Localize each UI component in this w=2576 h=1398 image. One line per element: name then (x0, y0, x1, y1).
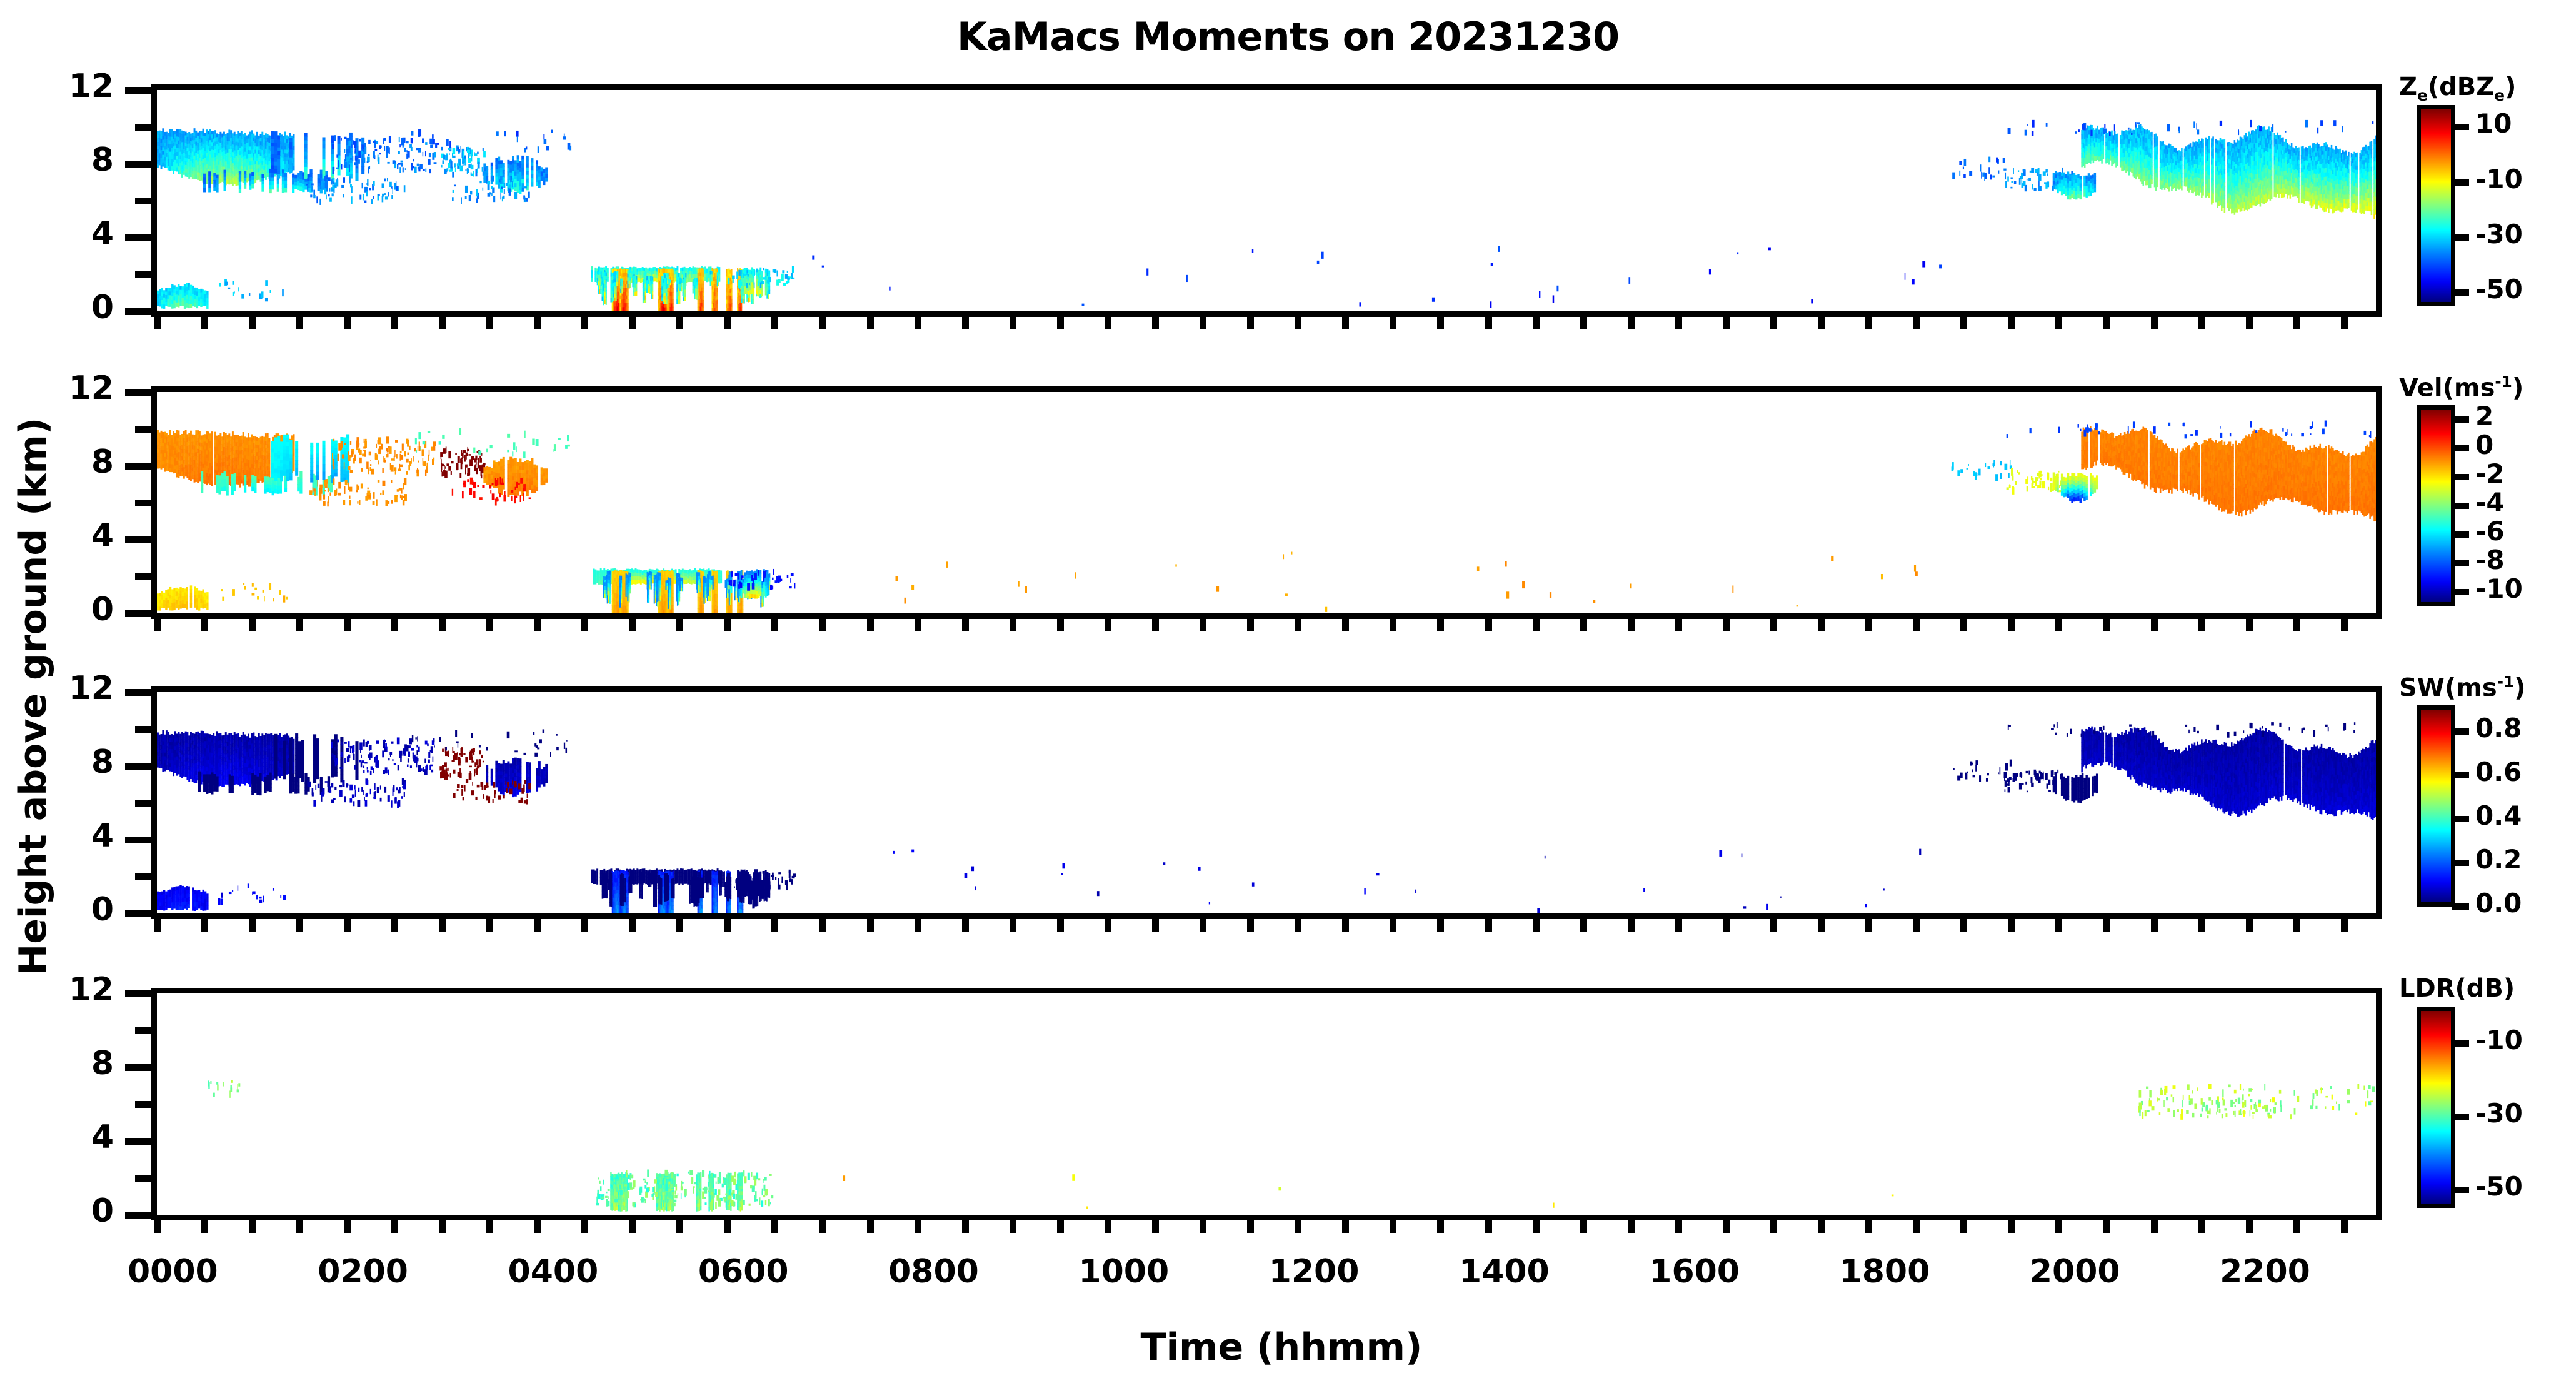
x-minor-tick (867, 1220, 874, 1233)
x-tick-label: 0200 (276, 1253, 451, 1290)
x-minor-tick (439, 919, 446, 932)
y-minor-tick (135, 873, 151, 880)
x-minor-tick (249, 317, 256, 329)
x-minor-tick (154, 1220, 161, 1233)
x-minor-tick (2341, 1220, 2348, 1233)
x-minor-tick (534, 919, 541, 932)
x-minor-tick (724, 317, 731, 329)
x-minor-tick (1770, 1220, 1777, 1233)
x-minor-tick (1437, 919, 1444, 932)
x-minor-tick (1533, 919, 1540, 932)
y-tick-label: 4 (0, 215, 114, 253)
colorbar-title-ldr: LDR(dB) (2399, 974, 2515, 1003)
x-minor-tick (1485, 317, 1492, 329)
x-minor-tick (2151, 1220, 2158, 1233)
x-minor-tick (1295, 317, 1301, 329)
x-minor-tick (1295, 1220, 1301, 1233)
x-minor-tick (1865, 317, 1872, 329)
y-major-tick (125, 763, 151, 770)
x-minor-tick (2293, 919, 2300, 932)
x-minor-tick (1818, 619, 1825, 631)
y-minor-tick (135, 1027, 151, 1034)
x-minor-tick (391, 919, 398, 932)
x-minor-tick (629, 919, 636, 932)
x-minor-tick (1152, 317, 1159, 329)
x-minor-tick (2055, 619, 2062, 631)
colorbar-tick-label: 0.4 (2475, 800, 2522, 831)
x-minor-tick (1057, 919, 1064, 932)
colorbar-tick (2452, 1114, 2469, 1120)
x-minor-tick (201, 1220, 208, 1233)
x-minor-tick (724, 1220, 731, 1233)
colorbar-title-vel: Vel(ms-1) (2399, 373, 2523, 402)
x-minor-tick (2008, 317, 2015, 329)
x-minor-tick (2103, 619, 2110, 631)
x-minor-tick (915, 1220, 921, 1233)
x-minor-tick (1390, 919, 1396, 932)
x-minor-tick (1628, 919, 1635, 932)
x-minor-tick (296, 919, 303, 932)
y-tick-label: 12 (0, 68, 114, 105)
x-minor-tick (2151, 619, 2158, 631)
x-minor-tick (1580, 317, 1587, 329)
x-minor-tick (344, 919, 351, 932)
x-minor-tick (581, 619, 588, 631)
y-major-tick (125, 610, 151, 617)
x-minor-tick (296, 317, 303, 329)
y-tick-label: 0 (0, 289, 114, 326)
x-minor-tick (2341, 619, 2348, 631)
x-minor-tick (201, 619, 208, 631)
x-minor-tick (1342, 1220, 1349, 1233)
x-minor-tick (1485, 919, 1492, 932)
y-tick-label: 8 (0, 1045, 114, 1082)
x-minor-tick (2198, 317, 2205, 329)
x-minor-tick (1485, 619, 1492, 631)
x-minor-tick (2246, 919, 2253, 932)
colorbar-tick-label: -50 (2475, 1171, 2523, 1202)
colorbar-tick (2452, 816, 2469, 822)
colorbar-tick-label: -6 (2475, 516, 2505, 546)
x-minor-tick (1770, 317, 1777, 329)
x-minor-tick (1580, 1220, 1587, 1233)
x-tick-label: 1000 (1036, 1253, 1211, 1290)
x-minor-tick (1057, 1220, 1064, 1233)
y-tick-label: 12 (0, 670, 114, 707)
x-minor-tick (249, 919, 256, 932)
y-minor-tick (135, 500, 151, 506)
y-tick-label: 0 (0, 891, 114, 928)
colorbar-tick-label: -10 (2475, 1025, 2523, 1055)
colorbar-gradient-sw (2417, 705, 2455, 907)
x-minor-tick (1295, 619, 1301, 631)
x-minor-tick (581, 317, 588, 329)
y-major-tick (125, 1064, 151, 1071)
x-minor-tick (2198, 619, 2205, 631)
x-minor-tick (1723, 619, 1730, 631)
x-minor-tick (486, 1220, 493, 1233)
x-minor-tick (1342, 317, 1349, 329)
x-minor-tick (2151, 919, 2158, 932)
x-minor-tick (1010, 317, 1016, 329)
x-minor-tick (676, 619, 683, 631)
x-minor-tick (2008, 1220, 2015, 1233)
x-minor-tick (1200, 919, 1206, 932)
x-minor-tick (1580, 619, 1587, 631)
x-minor-tick (2293, 1220, 2300, 1233)
x-minor-tick (2103, 317, 2110, 329)
x-minor-tick (1152, 919, 1159, 932)
x-minor-tick (1580, 919, 1587, 932)
x-minor-tick (296, 1220, 303, 1233)
y-minor-tick (135, 198, 151, 204)
x-minor-tick (1675, 619, 1682, 631)
x-minor-tick (2246, 1220, 2253, 1233)
colorbar-tick-label: -4 (2475, 487, 2505, 518)
x-minor-tick (1010, 919, 1016, 932)
x-tick-label: 1400 (1416, 1253, 1591, 1290)
x-tick-label: 0600 (656, 1253, 831, 1290)
x-minor-tick (1960, 919, 1967, 932)
colorbar-tick (2452, 860, 2469, 866)
colorbar-tick-label: 0.2 (2475, 844, 2522, 875)
x-minor-tick (1390, 619, 1396, 631)
x-minor-tick (629, 619, 636, 631)
colorbar-tick (2452, 903, 2469, 910)
colorbar-tick (2452, 503, 2469, 509)
y-tick-label: 4 (0, 817, 114, 855)
x-tick-label: 2200 (2178, 1253, 2353, 1290)
x-minor-tick (1723, 1220, 1730, 1233)
colorbar-tick (2452, 560, 2469, 566)
y-major-tick (125, 1212, 151, 1219)
x-minor-tick (2151, 317, 2158, 329)
colorbar-tick-label: 0.8 (2475, 713, 2522, 743)
x-minor-tick (154, 317, 161, 329)
colorbar-tick-label: 2 (2475, 401, 2493, 431)
colorbar-tick (2452, 234, 2469, 241)
x-minor-tick (391, 317, 398, 329)
colorbar-tick-label: 0.0 (2475, 888, 2522, 918)
colorbar-tick (2452, 531, 2469, 538)
plot-area-ldr (157, 993, 2376, 1215)
x-minor-tick (1105, 317, 1111, 329)
x-minor-tick (2008, 619, 2015, 631)
x-minor-tick (249, 1220, 256, 1233)
x-minor-tick (344, 1220, 351, 1233)
y-major-tick (125, 389, 151, 396)
y-minor-tick (135, 800, 151, 807)
x-minor-tick (2293, 317, 2300, 329)
x-minor-tick (1818, 1220, 1825, 1233)
x-minor-tick (1010, 619, 1016, 631)
x-minor-tick (1485, 1220, 1492, 1233)
x-minor-tick (534, 619, 541, 631)
panel-ldr (151, 988, 2382, 1220)
x-minor-tick (2246, 317, 2253, 329)
colorbar-tick-label: 0.6 (2475, 757, 2522, 787)
y-minor-tick (135, 726, 151, 733)
colorbar-tick-label: 10 (2475, 108, 2512, 139)
x-minor-tick (771, 317, 778, 329)
x-minor-tick (1960, 619, 1967, 631)
x-minor-tick (1295, 919, 1301, 932)
x-minor-tick (1437, 317, 1444, 329)
x-minor-tick (629, 317, 636, 329)
x-minor-tick (439, 317, 446, 329)
x-minor-tick (867, 619, 874, 631)
colorbar-title-ze: Ze(dBZe) (2399, 73, 2516, 104)
colorbar-tick (2452, 772, 2469, 778)
x-minor-tick (1342, 619, 1349, 631)
x-axis-label: Time (hhmm) (750, 1325, 1813, 1369)
colorbar-tick (2452, 589, 2469, 595)
colorbar-tick (2452, 1187, 2469, 1193)
x-minor-tick (581, 919, 588, 932)
x-minor-tick (1247, 919, 1254, 932)
y-major-tick (125, 689, 151, 696)
x-minor-tick (1818, 317, 1825, 329)
colorbar-gradient-ze (2417, 105, 2455, 306)
x-minor-tick (1200, 317, 1206, 329)
x-minor-tick (676, 919, 683, 932)
x-minor-tick (296, 619, 303, 631)
plot-area-ze (157, 90, 2376, 311)
x-minor-tick (486, 317, 493, 329)
colorbar-tick (2452, 179, 2469, 186)
x-minor-tick (1723, 317, 1730, 329)
x-minor-tick (1865, 1220, 1872, 1233)
x-minor-tick (1010, 1220, 1016, 1233)
page-title: KaMacs Moments on 20231230 (0, 14, 2576, 59)
x-minor-tick (867, 919, 874, 932)
x-minor-tick (249, 619, 256, 631)
x-minor-tick (915, 619, 921, 631)
x-minor-tick (771, 619, 778, 631)
x-minor-tick (1057, 619, 1064, 631)
x-minor-tick (962, 1220, 969, 1233)
panel-ze (151, 84, 2382, 317)
y-minor-tick (135, 124, 151, 131)
x-minor-tick (771, 919, 778, 932)
x-minor-tick (1533, 1220, 1540, 1233)
x-minor-tick (1105, 1220, 1111, 1233)
x-minor-tick (724, 619, 731, 631)
y-major-tick (125, 463, 151, 470)
colorbar-tick (2452, 728, 2469, 735)
colorbar-tick-label: -10 (2475, 164, 2523, 194)
x-minor-tick (2246, 619, 2253, 631)
x-minor-tick (1247, 317, 1254, 329)
x-minor-tick (391, 1220, 398, 1233)
x-minor-tick (1628, 1220, 1635, 1233)
x-minor-tick (1723, 919, 1730, 932)
y-tick-label: 0 (0, 1192, 114, 1230)
x-minor-tick (819, 619, 826, 631)
x-minor-tick (1913, 1220, 1920, 1233)
x-minor-tick (534, 317, 541, 329)
y-major-tick (125, 234, 151, 241)
x-minor-tick (1675, 317, 1682, 329)
colorbar-tick (2452, 416, 2469, 423)
colorbar-gradient-vel (2417, 405, 2455, 606)
colorbar-tick-label: -10 (2475, 573, 2523, 604)
colorbar-tick-label: -50 (2475, 274, 2523, 304)
x-minor-tick (1437, 619, 1444, 631)
x-minor-tick (629, 1220, 636, 1233)
x-tick-label: 1200 (1226, 1253, 1401, 1290)
x-minor-tick (534, 1220, 541, 1233)
x-tick-label: 1600 (1607, 1253, 1782, 1290)
x-minor-tick (1390, 317, 1396, 329)
x-minor-tick (2008, 919, 2015, 932)
x-minor-tick (676, 1220, 683, 1233)
y-minor-tick (135, 271, 151, 278)
x-minor-tick (154, 619, 161, 631)
colorbar-tick-label: -30 (2475, 1098, 2523, 1129)
plot-area-sw (157, 692, 2376, 913)
x-minor-tick (819, 1220, 826, 1233)
x-minor-tick (2055, 1220, 2062, 1233)
colorbar-gradient-ldr (2417, 1007, 2455, 1208)
x-minor-tick (1390, 1220, 1396, 1233)
x-minor-tick (1960, 317, 1967, 329)
x-minor-tick (1342, 919, 1349, 932)
x-minor-tick (1105, 619, 1111, 631)
x-minor-tick (2103, 1220, 2110, 1233)
colorbar-tick (2452, 1040, 2469, 1047)
x-minor-tick (1105, 919, 1111, 932)
x-minor-tick (439, 1220, 446, 1233)
y-tick-label: 0 (0, 591, 114, 628)
x-minor-tick (1200, 1220, 1206, 1233)
colorbar-tick (2452, 289, 2469, 296)
colorbar-tick (2452, 124, 2469, 130)
x-minor-tick (1913, 317, 1920, 329)
y-tick-label: 8 (0, 743, 114, 781)
x-minor-tick (724, 919, 731, 932)
x-minor-tick (201, 317, 208, 329)
x-tick-label: 0800 (846, 1253, 1021, 1290)
x-minor-tick (2103, 919, 2110, 932)
x-minor-tick (819, 919, 826, 932)
y-major-tick (125, 990, 151, 997)
colorbar-tick-label: -30 (2475, 219, 2523, 249)
y-tick-label: 4 (0, 517, 114, 555)
x-minor-tick (962, 919, 969, 932)
y-major-tick (125, 308, 151, 315)
x-minor-tick (2198, 1220, 2205, 1233)
x-minor-tick (1913, 919, 1920, 932)
y-major-tick (125, 536, 151, 543)
colorbar-tick-label: -8 (2475, 545, 2505, 575)
y-minor-tick (135, 426, 151, 433)
y-tick-label: 8 (0, 141, 114, 179)
y-major-tick (125, 1138, 151, 1145)
panel-vel (151, 386, 2382, 619)
x-minor-tick (1247, 1220, 1254, 1233)
x-minor-tick (1913, 619, 1920, 631)
x-minor-tick (1675, 919, 1682, 932)
y-tick-label: 12 (0, 370, 114, 407)
x-minor-tick (676, 317, 683, 329)
y-major-tick (125, 837, 151, 843)
colorbar-tick-label: 0 (2475, 430, 2493, 460)
x-minor-tick (1437, 1220, 1444, 1233)
x-tick-label: 2000 (1987, 1253, 2162, 1290)
y-minor-tick (135, 1101, 151, 1108)
x-minor-tick (486, 919, 493, 932)
y-minor-tick (135, 1175, 151, 1182)
plot-area-vel (157, 392, 2376, 613)
x-minor-tick (819, 317, 826, 329)
x-minor-tick (581, 1220, 588, 1233)
x-minor-tick (1770, 619, 1777, 631)
figure-canvas: KaMacs Moments on 20231230 Height above … (0, 0, 2576, 1398)
x-minor-tick (2293, 619, 2300, 631)
x-minor-tick (771, 1220, 778, 1233)
y-tick-label: 4 (0, 1119, 114, 1156)
x-minor-tick (1152, 619, 1159, 631)
y-major-tick (125, 161, 151, 168)
x-minor-tick (1152, 1220, 1159, 1233)
x-minor-tick (2341, 919, 2348, 932)
x-tick-label: 1800 (1797, 1253, 1972, 1290)
colorbar-title-sw: SW(ms-1) (2399, 673, 2526, 702)
x-minor-tick (1247, 619, 1254, 631)
y-major-tick (125, 87, 151, 94)
colorbar-tick (2452, 474, 2469, 480)
panel-sw (151, 686, 2382, 919)
x-minor-tick (1533, 317, 1540, 329)
x-minor-tick (1865, 619, 1872, 631)
x-minor-tick (915, 919, 921, 932)
x-minor-tick (2341, 317, 2348, 329)
x-minor-tick (344, 317, 351, 329)
x-minor-tick (1628, 619, 1635, 631)
x-minor-tick (2198, 919, 2205, 932)
x-minor-tick (1057, 317, 1064, 329)
x-tick-label: 0000 (85, 1253, 260, 1290)
colorbar-tick (2452, 445, 2469, 451)
x-minor-tick (439, 619, 446, 631)
y-major-tick (125, 910, 151, 917)
x-minor-tick (2055, 317, 2062, 329)
x-minor-tick (1770, 919, 1777, 932)
x-minor-tick (1865, 919, 1872, 932)
x-minor-tick (391, 619, 398, 631)
x-minor-tick (486, 619, 493, 631)
x-minor-tick (1628, 317, 1635, 329)
x-minor-tick (962, 619, 969, 631)
x-minor-tick (2055, 919, 2062, 932)
y-tick-label: 8 (0, 443, 114, 481)
x-minor-tick (201, 919, 208, 932)
x-minor-tick (1200, 619, 1206, 631)
x-minor-tick (962, 317, 969, 329)
x-minor-tick (344, 619, 351, 631)
y-minor-tick (135, 573, 151, 580)
colorbar-tick-label: -2 (2475, 458, 2505, 489)
x-minor-tick (1818, 919, 1825, 932)
x-minor-tick (154, 919, 161, 932)
x-tick-label: 0400 (466, 1253, 641, 1290)
x-minor-tick (1960, 1220, 1967, 1233)
x-minor-tick (867, 317, 874, 329)
y-tick-label: 12 (0, 971, 114, 1008)
x-minor-tick (1533, 619, 1540, 631)
x-minor-tick (915, 317, 921, 329)
